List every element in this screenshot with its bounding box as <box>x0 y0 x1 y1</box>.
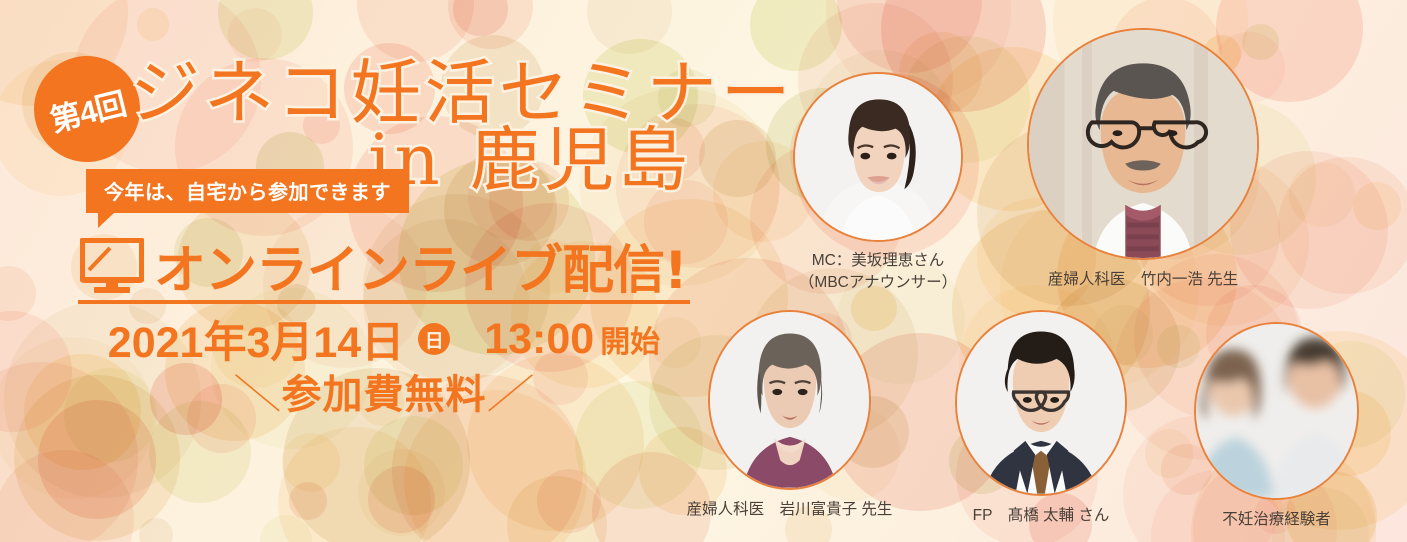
fee-label: 参加費無料 <box>282 372 487 418</box>
portrait-photo-mc <box>793 72 963 242</box>
portrait-caption-takeuchi: 産婦人科医 竹内一浩 先生 <box>1048 270 1238 291</box>
portrait-caption-takeuchi-line1: 産婦人科医 竹内一浩 先生 <box>1048 270 1238 291</box>
portrait-caption-experiencer-line1: 不妊治療経験者 <box>1222 510 1331 531</box>
fee-row: ＼参加費無料／ <box>78 362 690 420</box>
portrait-fertility-experiencer: 不妊治療経験者 <box>1194 322 1359 500</box>
portrait-doctor-takeuchi: 産婦人科医 竹内一浩 先生 <box>1027 28 1259 260</box>
left-content: 第4回 ジネコ妊活セミナー in 鹿児島 今年は、自宅から参加できます オンライ… <box>0 0 720 542</box>
portrait-caption-mc: MC：美坂理恵さん （MBCアナウンサー） <box>799 250 957 293</box>
portrait-caption-iwakawa: 産婦人科医 岩川富貴子 先生 <box>687 500 893 521</box>
notice-bubble-label: 今年は、自宅から参加できます <box>104 182 391 204</box>
photo-takeuchi-illustration <box>1029 30 1257 258</box>
bokeh-circle <box>1278 157 1407 294</box>
bokeh-circle <box>1145 429 1193 477</box>
live-stream-label: オンラインライブ配信! <box>154 228 687 303</box>
schedule-start-suffix: 開始 <box>600 317 660 361</box>
fee-slash-right: ／ <box>484 362 537 420</box>
divider <box>78 300 690 304</box>
live-stream-heading: オンラインライブ配信! <box>80 228 687 303</box>
photo-takahashi-illustration <box>957 312 1125 494</box>
portrait-caption-iwakawa-line1: 産婦人科医 岩川富貴子 先生 <box>687 500 893 521</box>
portrait-caption-takahashi: FP 髙橋 太輔 さん <box>973 506 1110 527</box>
portrait-doctor-iwakawa: 産婦人科医 岩川富貴子 先生 <box>708 310 871 490</box>
portrait-caption-takahashi-line1: FP 髙橋 太輔 さん <box>973 506 1110 527</box>
portrait-caption-experiencer: 不妊治療経験者 <box>1222 510 1331 531</box>
portrait-photo-takahashi <box>955 310 1127 496</box>
portrait-caption-mc-line1: MC：美坂理恵さん <box>799 250 957 272</box>
fee-slash-left: ＼ <box>230 362 283 420</box>
notice-bubble: 今年は、自宅から参加できます <box>86 169 409 213</box>
schedule-time: 13:00 <box>484 315 594 364</box>
photo-experiencer-illustration <box>1196 324 1357 498</box>
portrait-caption-mc-line2: （MBCアナウンサー） <box>799 272 957 294</box>
portrait-mc-misaka-rie: MC：美坂理恵さん （MBCアナウンサー） <box>793 72 963 242</box>
monitor-icon <box>80 238 144 294</box>
bokeh-circle <box>837 0 982 73</box>
schedule-row: 2021年3月14日 日 13:00 開始 <box>78 308 690 370</box>
photo-iwakawa-illustration <box>710 312 869 488</box>
portrait-photo-iwakawa <box>708 310 871 490</box>
edition-badge-label: 第4回 <box>45 78 130 140</box>
bokeh-circle <box>1289 162 1355 228</box>
photo-mc-illustration <box>795 74 961 240</box>
portrait-photo-takeuchi <box>1027 28 1259 260</box>
schedule-date: 2021年3月14日 <box>108 308 404 370</box>
weekday-badge-label: 日 <box>425 326 444 353</box>
portrait-photo-experiencer <box>1194 322 1359 500</box>
portrait-fp-takahashi: FP 髙橋 太輔 さん <box>955 310 1127 496</box>
bokeh-circle <box>1353 182 1401 230</box>
seminar-banner: 第4回 ジネコ妊活セミナー in 鹿児島 今年は、自宅から参加できます オンライ… <box>0 0 1407 542</box>
weekday-badge: 日 <box>418 323 450 355</box>
